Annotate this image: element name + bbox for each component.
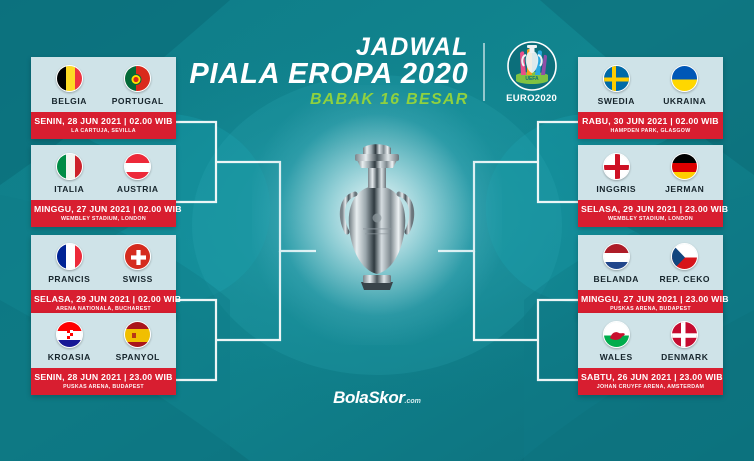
team-name: BELANDA [585,274,647,284]
match-card[interactable]: PRANCIS SWISS SELASA, 29 JUN 2021 | 02.0… [31,235,176,317]
team-name: PRANCIS [38,274,100,284]
team-name: UKRAINA [654,96,716,106]
match-venue: PUSKAS ARENA, BUDAPEST [581,306,720,312]
team-away: SPANYOL [107,321,169,362]
henri-delaunay-trophy-icon [327,140,427,290]
team-name: ITALIA [38,184,100,194]
team-home: WALES [585,321,647,362]
match-card[interactable]: SWEDIA UKRAINA RABU, 30 JUN 2021 | 02.00… [578,57,723,139]
match-teams: KROASIA SPANYOL [31,313,176,368]
match-datetime: SENIN, 28 JUN 2021 | 23.00 WIB [34,372,173,382]
match-datetime: SABTU, 26 JUN 2021 | 23.00 WIB [581,372,720,382]
team-name: SPANYOL [107,352,169,362]
logo-tld-text: .com [405,398,421,405]
team-name: BELGIA [38,96,100,106]
team-home: ITALIA [38,153,100,194]
match-teams: INGGRIS JERMAN [578,145,723,200]
match-venue: ARENA NATIONALA, BUCHAREST [34,306,173,312]
match-teams: ITALIA AUSTRIA [31,145,176,200]
team-home: BELANDA [585,243,647,284]
flag-switzerland [124,243,151,270]
match-datetime: MINGGU, 27 JUN 2021 | 23.00 WIB [581,294,720,304]
flag-ukraine [671,65,698,92]
flag-netherlands [603,243,630,270]
flag-wales [603,321,630,348]
match-venue: HAMPDEN PARK, GLASGOW [581,128,720,134]
match-info: SELASA, 29 JUN 2021 | 23.00 WIB WEMBLEY … [578,200,723,227]
flag-portugal [124,65,151,92]
team-away: JERMAN [654,153,716,194]
team-away: AUSTRIA [107,153,169,194]
match-venue: WEMBLEY STADIUM, LONDON [34,216,173,222]
flag-denmark [671,321,698,348]
team-home: BELGIA [38,65,100,106]
team-name: JERMAN [654,184,716,194]
match-teams: SWEDIA UKRAINA [578,57,723,112]
match-datetime: SENIN, 28 JUN 2021 | 02.00 WIB [34,116,173,126]
flag-czech-republic [671,243,698,270]
match-card[interactable]: INGGRIS JERMAN SELASA, 29 JUN 2021 | 23.… [578,145,723,227]
team-name: DENMARK [654,352,716,362]
flag-spain [124,321,151,348]
match-info: RABU, 30 JUN 2021 | 02.00 WIB HAMPDEN PA… [578,112,723,139]
team-name: SWEDIA [585,96,647,106]
logo-bola-text: Bola [333,388,368,407]
flag-germany [671,153,698,180]
team-home: SWEDIA [585,65,647,106]
match-teams: WALES DENMARK [578,313,723,368]
match-info: SENIN, 28 JUN 2021 | 02.00 WIB LA CARTUJ… [31,112,176,139]
flag-belgium [56,65,83,92]
match-card[interactable]: BELANDA REP. CEKO MINGGU, 27 JUN 2021 | … [578,235,723,317]
match-teams: PRANCIS SWISS [31,235,176,290]
team-home: PRANCIS [38,243,100,284]
team-name: INGGRIS [585,184,647,194]
flag-austria [124,153,151,180]
team-name: PORTUGAL [107,96,169,106]
match-datetime: SELASA, 29 JUN 2021 | 02.00 WIB [34,294,173,304]
match-teams: BELANDA REP. CEKO [578,235,723,290]
match-card[interactable]: BELGIA PORTUGAL SENIN, 28 JUN 2021 | 02.… [31,57,176,139]
flag-croatia [56,321,83,348]
team-away: PORTUGAL [107,65,169,106]
logo-wordmark: BolaSkor.com [333,388,421,408]
team-name: SWISS [107,274,169,284]
team-home: KROASIA [38,321,100,362]
logo-skor-text: Skor [368,388,404,407]
team-away: UKRAINA [654,65,716,106]
trophy-graphic [327,140,427,290]
match-card[interactable]: ITALIA AUSTRIA MINGGU, 27 JUN 2021 | 02.… [31,145,176,227]
team-name: WALES [585,352,647,362]
match-datetime: MINGGU, 27 JUN 2021 | 02.00 WIB [34,204,173,214]
flag-italy [56,153,83,180]
match-teams: BELGIA PORTUGAL [31,57,176,112]
team-name: REP. CEKO [654,274,716,284]
site-logo[interactable]: BolaSkor.com [0,388,754,408]
match-card[interactable]: WALES DENMARK SABTU, 26 JUN 2021 | 23.00… [578,313,723,395]
match-card[interactable]: KROASIA SPANYOL SENIN, 28 JUN 2021 | 23.… [31,313,176,395]
flag-sweden [603,65,630,92]
match-venue: WEMBLEY STADIUM, LONDON [581,216,720,222]
match-info: MINGGU, 27 JUN 2021 | 02.00 WIB WEMBLEY … [31,200,176,227]
match-datetime: RABU, 30 JUN 2021 | 02.00 WIB [581,116,720,126]
team-away: REP. CEKO [654,243,716,284]
flag-france [56,243,83,270]
team-name: AUSTRIA [107,184,169,194]
team-away: DENMARK [654,321,716,362]
team-name: KROASIA [38,352,100,362]
match-venue: LA CARTUJA, SEVILLA [34,128,173,134]
match-datetime: SELASA, 29 JUN 2021 | 23.00 WIB [581,204,720,214]
flag-england [603,153,630,180]
team-away: SWISS [107,243,169,284]
team-home: INGGRIS [585,153,647,194]
